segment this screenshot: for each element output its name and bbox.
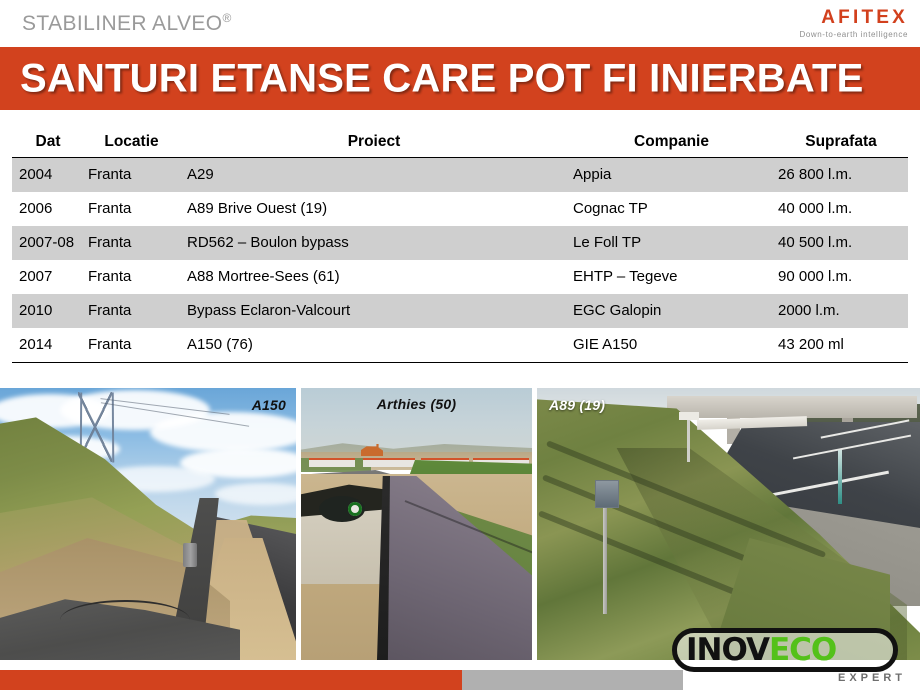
footer-gray-segment <box>462 670 683 690</box>
photo-caption-a89: A89 (19) <box>549 397 605 413</box>
sign-post <box>687 414 690 462</box>
cell-dat: 2014 <box>12 328 84 363</box>
cell-companie: GIE A150 <box>569 328 774 363</box>
cell-proiect: A89 Brive Ouest (19) <box>179 192 569 226</box>
green-marker-post <box>838 450 842 504</box>
cell-companie: Appia <box>569 158 774 193</box>
cell-companie: EGC Galopin <box>569 294 774 328</box>
table-body: 2004 Franta A29 Appia 26 800 l.m. 2006 F… <box>12 158 908 363</box>
column-header-dat: Dat <box>12 128 84 158</box>
column-header-suprafata: Suprafata <box>774 128 908 158</box>
photo-a150: A150 <box>0 388 296 660</box>
cell-suprafata: 26 800 l.m. <box>774 158 908 193</box>
cell-dat: 2007-08 <box>12 226 84 260</box>
site-barrier <box>363 458 415 467</box>
inoveco-wordmark: INOVECO <box>686 632 886 668</box>
cell-locatie: Franta <box>84 226 179 260</box>
pipe-coil <box>319 496 365 522</box>
photo-a89-image <box>537 388 920 660</box>
inoveco-logo: INOVECO EXPERT <box>672 628 916 686</box>
cell-proiect: RD562 – Boulon bypass <box>179 226 569 260</box>
title-banner: SANTURI ETANSE CARE POT FI INIERBATE <box>0 47 920 110</box>
photo-arthies: Arthies (50) <box>301 388 532 660</box>
inoveco-subtitle: EXPERT <box>838 672 906 684</box>
utility-box <box>595 480 619 508</box>
column-header-proiect: Proiect <box>179 128 569 158</box>
afitex-logo: AFITEX Down-to-earth intelligence <box>799 8 908 40</box>
photo-caption-arthies: Arthies (50) <box>377 396 456 412</box>
cell-companie: Le Foll TP <box>569 226 774 260</box>
photo-caption-a150: A150 <box>252 397 286 413</box>
table-row: 2007 Franta A88 Mortree-Sees (61) EHTP –… <box>12 260 908 294</box>
cell-dat: 2004 <box>12 158 84 193</box>
photo-strip: A150 <box>0 388 920 660</box>
cell-companie: Cognac TP <box>569 192 774 226</box>
cell-suprafata: 90 000 l.m. <box>774 260 908 294</box>
cell-proiect: A88 Mortree-Sees (61) <box>179 260 569 294</box>
table-header-row: Dat Locatie Proiect Companie Suprafata <box>12 128 908 158</box>
cell-locatie: Franta <box>84 294 179 328</box>
column-header-companie: Companie <box>569 128 774 158</box>
cell-suprafata: 43 200 ml <box>774 328 908 363</box>
table-header: Dat Locatie Proiect Companie Suprafata <box>12 128 908 158</box>
cell-locatie: Franta <box>84 260 179 294</box>
cell-proiect: A29 <box>179 158 569 193</box>
slide-root: STABILINER ALVEO® AFITEX Down-to-earth i… <box>0 0 920 690</box>
road-sign <box>679 412 699 420</box>
cell-suprafata: 2000 l.m. <box>774 294 908 328</box>
afitex-wordmark: AFITEX <box>799 8 908 27</box>
cell-locatie: Franta <box>84 158 179 193</box>
footer-orange-segment <box>0 670 462 690</box>
inoveco-word-part-two: ECO <box>769 632 836 668</box>
table-row: 2014 Franta A150 (76) GIE A150 43 200 ml <box>12 328 908 363</box>
table-row: 2004 Franta A29 Appia 26 800 l.m. <box>12 158 908 193</box>
reference-table: Dat Locatie Proiect Companie Suprafata 2… <box>12 128 908 363</box>
photo-a150-image <box>0 388 296 660</box>
cell-dat: 2007 <box>12 260 84 294</box>
afitex-tagline: Down-to-earth intelligence <box>799 29 908 40</box>
column-header-locatie: Locatie <box>84 128 179 158</box>
cell-suprafata: 40 000 l.m. <box>774 192 908 226</box>
drainage-pipe <box>183 543 197 567</box>
table-row: 2007-08 Franta RD562 – Boulon bypass Le … <box>12 226 908 260</box>
cloud <box>150 412 296 452</box>
slide-header: STABILINER ALVEO® AFITEX Down-to-earth i… <box>0 0 920 47</box>
site-barrier <box>309 458 355 467</box>
photo-a89: A89 (19) <box>537 388 920 660</box>
registered-trademark-symbol: ® <box>223 11 232 25</box>
cell-dat: 2010 <box>12 294 84 328</box>
inoveco-word-part-one: INOV <box>686 632 769 668</box>
cell-locatie: Franta <box>84 192 179 226</box>
product-title-text: STABILINER ALVEO <box>22 12 223 35</box>
cell-companie: EHTP – Tegeve <box>569 260 774 294</box>
table-row: 2006 Franta A89 Brive Ouest (19) Cognac … <box>12 192 908 226</box>
cell-dat: 2006 <box>12 192 84 226</box>
cell-proiect: A150 (76) <box>179 328 569 363</box>
cell-locatie: Franta <box>84 328 179 363</box>
table-row: 2010 Franta Bypass Eclaron-Valcourt EGC … <box>12 294 908 328</box>
overpass-bridge <box>667 396 917 418</box>
slide-title: SANTURI ETANSE CARE POT FI INIERBATE <box>20 56 864 101</box>
reference-table-container: Dat Locatie Proiect Companie Suprafata 2… <box>12 128 908 363</box>
photo-arthies-image <box>301 388 532 660</box>
product-title: STABILINER ALVEO® <box>22 11 232 36</box>
cell-proiect: Bypass Eclaron-Valcourt <box>179 294 569 328</box>
cell-suprafata: 40 500 l.m. <box>774 226 908 260</box>
